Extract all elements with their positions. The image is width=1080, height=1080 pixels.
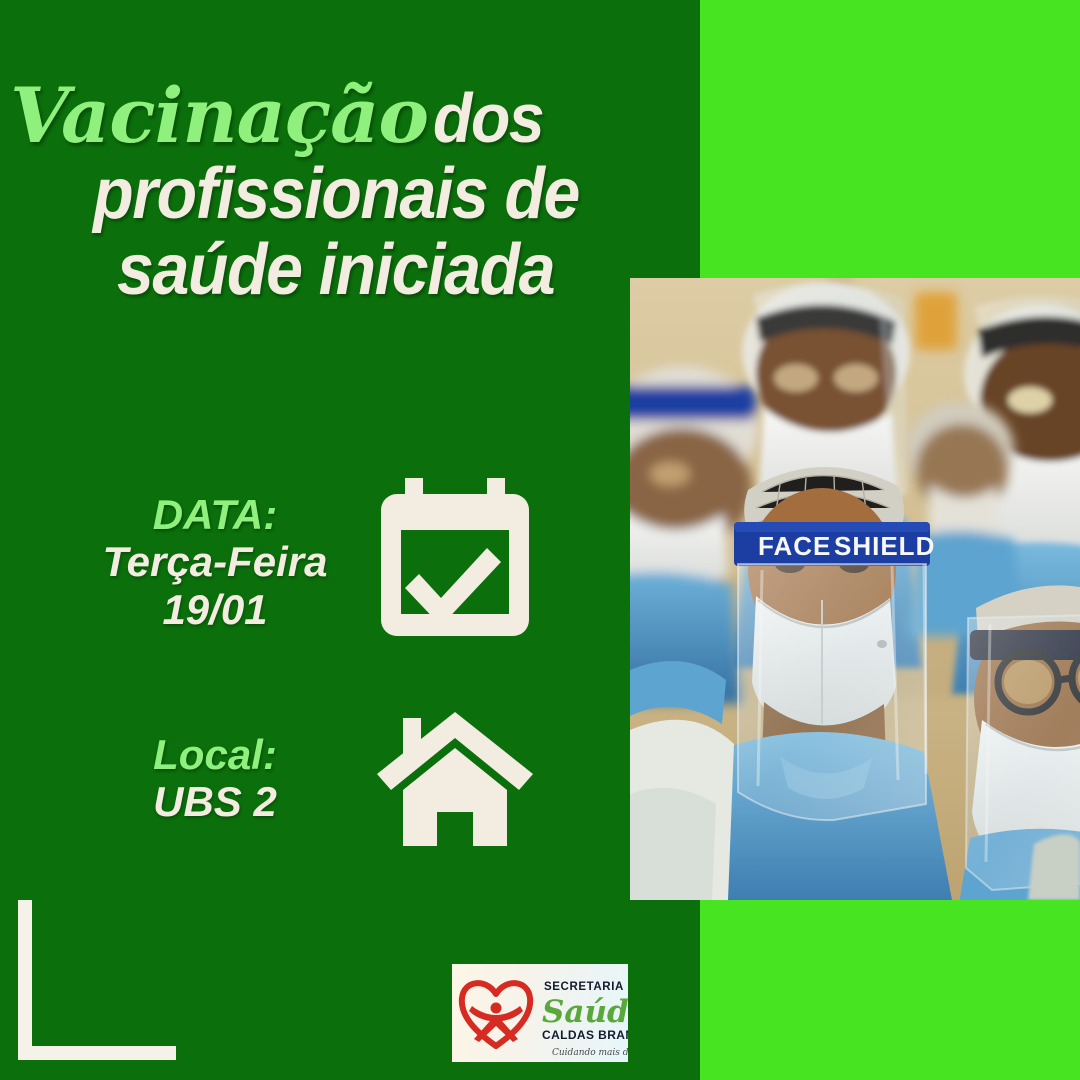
location-value: UBS 2 [60, 778, 370, 825]
info-text-location: Local: UBS 2 [60, 731, 370, 825]
headline-line1-rest: dos [433, 84, 543, 153]
corner-bracket-decoration [18, 900, 176, 1060]
headline-script-word: Vacinação [10, 71, 428, 160]
secretaria-saude-logo: SECRETARIA DE Saúde CALDAS BRANDÃO Cuida… [452, 964, 628, 1062]
date-value: Terça-Feira 19/01 [60, 538, 370, 632]
info-text-date: DATA: Terça-Feira 19/01 [60, 491, 370, 632]
bright-green-panel-top [700, 0, 1080, 278]
info-block: DATA: Terça-Feira 19/01 Local: [60, 478, 620, 848]
heart-person-icon [462, 983, 530, 1046]
info-row-location: Local: UBS 2 [60, 708, 620, 848]
headline-line-1: Vacinação dos [6, 78, 666, 153]
date-label: DATA: [60, 491, 370, 538]
date-value-line-1: Terça-Feira [60, 538, 370, 585]
headline: Vacinação dos profissionais de saúde ini… [6, 78, 666, 306]
date-value-line-2: 19/01 [60, 586, 370, 633]
bright-green-panel-bottom [700, 900, 1080, 1080]
logo-tagline: Cuidando mais de você [552, 1047, 628, 1058]
logo-line-bottom: CALDAS BRANDÃO [542, 1027, 628, 1042]
headline-line-3: saúde iniciada [6, 235, 666, 306]
location-value-line-1: UBS 2 [60, 778, 370, 825]
location-label: Local: [60, 731, 370, 778]
logo-line-main: Saúde [542, 994, 628, 1030]
poster-canvas: FACE SHIELD [0, 0, 1080, 1080]
logo-line-top: SECRETARIA DE [544, 981, 628, 993]
info-row-date: DATA: Terça-Feira 19/01 [60, 478, 620, 646]
healthcare-workers-photo: FACE SHIELD [630, 278, 1080, 900]
calendar-check-icon [370, 478, 540, 646]
headline-line-2: profissionais de [6, 159, 666, 230]
bracket-vertical-stroke [18, 900, 32, 1060]
house-icon [370, 708, 540, 848]
bracket-horizontal-stroke [18, 1046, 176, 1060]
